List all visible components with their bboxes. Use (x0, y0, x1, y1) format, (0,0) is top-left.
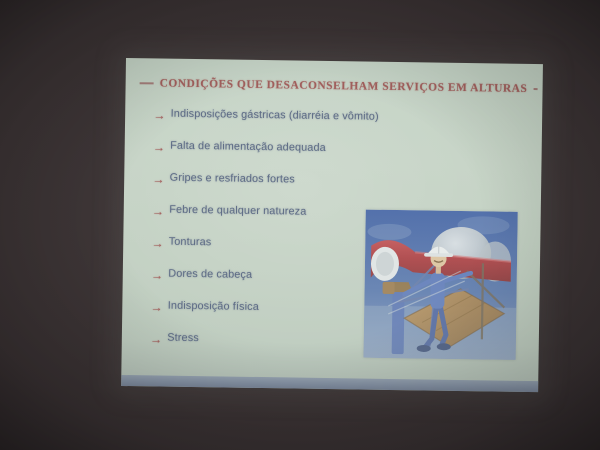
arrow-right-icon: → (151, 268, 164, 282)
arrow-right-icon: → (151, 236, 164, 250)
worker-at-height-illustration (364, 210, 518, 360)
list-item-label: Stress (167, 333, 199, 345)
arrow-right-icon: → (153, 140, 166, 154)
list-item: → Falta de alimentação adequada (153, 140, 403, 157)
list-item-label: Gripes e resfriados fortes (170, 173, 295, 187)
list-item: → Indisposições gástricas (diarréia e vô… (153, 108, 403, 125)
arrow-right-icon: → (153, 108, 166, 122)
arrow-right-icon: → (152, 172, 165, 186)
list-item-label: Tonturas (169, 237, 212, 250)
projected-slide-photo: CONDIÇÕES QUE DESACONSELHAM SERVIÇOS EM … (0, 0, 600, 450)
list-item: → Stress (150, 332, 400, 349)
page-title: CONDIÇÕES QUE DESACONSELHAM SERVIÇOS EM … (160, 78, 528, 95)
arrow-right-icon: → (152, 204, 165, 218)
title-rule-right-icon (533, 88, 537, 90)
arrow-right-icon: → (150, 332, 163, 346)
slide-footer-band (121, 375, 538, 392)
list-item: → Febre de qualquer natureza (152, 204, 402, 221)
list-item: → Dores de cabeça (151, 268, 401, 285)
title-rule-left-icon (140, 82, 154, 84)
arrow-right-icon: → (150, 300, 163, 314)
projection-screen: CONDIÇÕES QUE DESACONSELHAM SERVIÇOS EM … (121, 58, 543, 392)
list-item: → Indisposição física (150, 300, 400, 317)
list-item: → Gripes e resfriados fortes (152, 172, 402, 189)
list-item: → Tonturas (151, 236, 401, 253)
list-item-label: Dores de cabeça (168, 269, 252, 282)
slide-surface: CONDIÇÕES QUE DESACONSELHAM SERVIÇOS EM … (121, 58, 543, 392)
slide-title-row: CONDIÇÕES QUE DESACONSELHAM SERVIÇOS EM … (140, 77, 537, 95)
list-item-label: Indisposição física (168, 301, 259, 314)
list-item-label: Febre de qualquer natureza (169, 205, 306, 219)
list-item-label: Falta de alimentação adequada (170, 141, 326, 155)
list-item-label: Indisposições gástricas (diarréia e vômi… (171, 109, 379, 124)
